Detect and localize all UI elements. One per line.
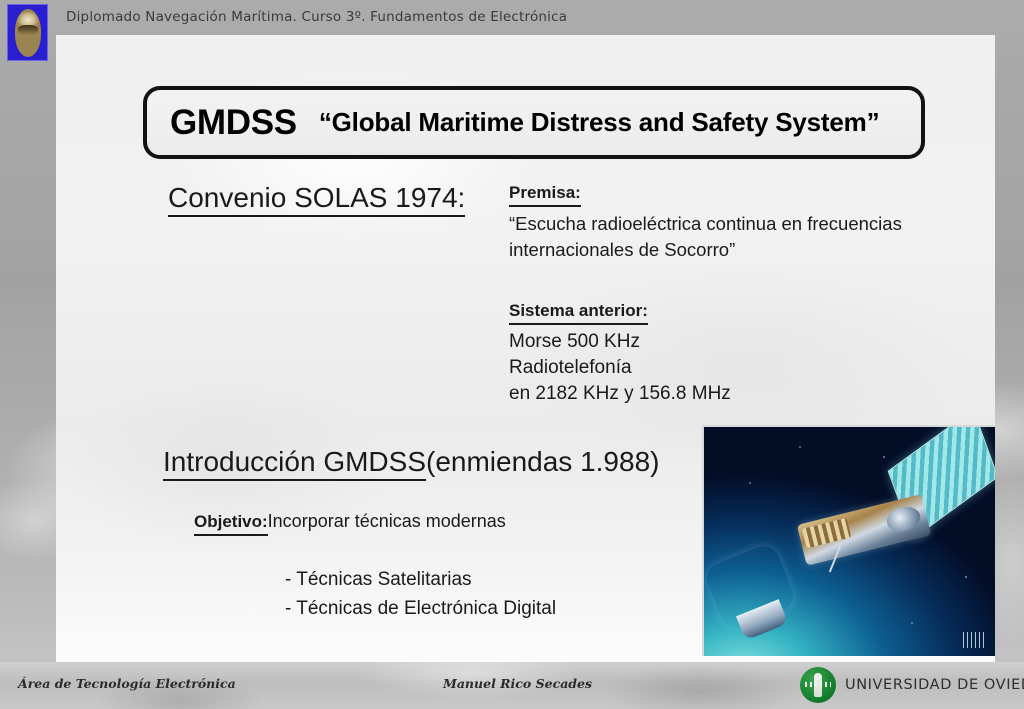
solas-heading-text: Convenio SOLAS 1974:	[168, 182, 465, 217]
sistema-anterior-block: Sistema anterior: Morse 500 KHz Radiotel…	[509, 301, 889, 407]
footer-author: Manuel Rico Secades	[443, 676, 592, 691]
title-expansion: “Global Maritime Distress and Safety Sys…	[319, 107, 880, 138]
uniovi-seal-icon	[800, 667, 836, 703]
course-title: Diplomado Navegación Marítima. Curso 3º.…	[66, 9, 567, 25]
premisa-label: Premisa:	[509, 183, 581, 207]
sistema-anterior-label: Sistema anterior:	[509, 301, 648, 325]
sistema-line-3: en 2182 KHz y 156.8 MHz	[509, 381, 889, 407]
image-watermark	[963, 632, 985, 648]
satellite-image	[702, 425, 995, 656]
title-acronym: GMDSS	[170, 103, 297, 143]
intro-heading-rest: (enmiendas 1.988)	[426, 446, 659, 477]
premisa-block: Premisa: “Escucha radioeléctrica continu…	[509, 183, 949, 263]
title-box: GMDSS “Global Maritime Distress and Safe…	[143, 86, 925, 159]
bullet-item: - Técnicas Satelitarias	[285, 565, 556, 594]
bullet-item: - Técnicas de Electrónica Digital	[285, 594, 556, 623]
premisa-label-row: Premisa:	[509, 183, 949, 207]
objetivo-block: Objetivo:Incorporar técnicas modernas	[194, 511, 506, 536]
intro-heading-underlined: Introducción GMDSS	[163, 446, 426, 481]
header-band: Diplomado Navegación Marítima. Curso 3º.…	[0, 0, 1024, 35]
footer-department: Área de Tecnología Electrónica	[18, 676, 236, 691]
sistema-line-2: Radiotelefonía	[509, 355, 889, 381]
slide-root: Diplomado Navegación Marítima. Curso 3º.…	[0, 0, 1024, 709]
sistema-label-row: Sistema anterior:	[509, 301, 889, 325]
solas-heading: Convenio SOLAS 1974:	[168, 182, 465, 214]
uniovi-name: UNIVERSIDAD DE OVIEDO	[845, 677, 1024, 693]
intro-heading: Introducción GMDSS(enmiendas 1.988)	[163, 446, 659, 478]
crest-figure	[15, 9, 41, 57]
premisa-line-2: internacionales de Socorro”	[509, 237, 949, 263]
university-logo: UNIVERSIDAD DE OVIEDO	[800, 667, 1024, 703]
objetivo-bullet-list: - Técnicas Satelitarias - Técnicas de El…	[285, 565, 556, 623]
objetivo-label: Objetivo:	[194, 512, 268, 536]
objetivo-text: Incorporar técnicas modernas	[268, 511, 506, 531]
premisa-line-1: “Escucha radioeléctrica continua en frec…	[509, 211, 949, 237]
university-crest-icon	[7, 4, 48, 61]
sistema-line-1: Morse 500 KHz	[509, 329, 889, 355]
